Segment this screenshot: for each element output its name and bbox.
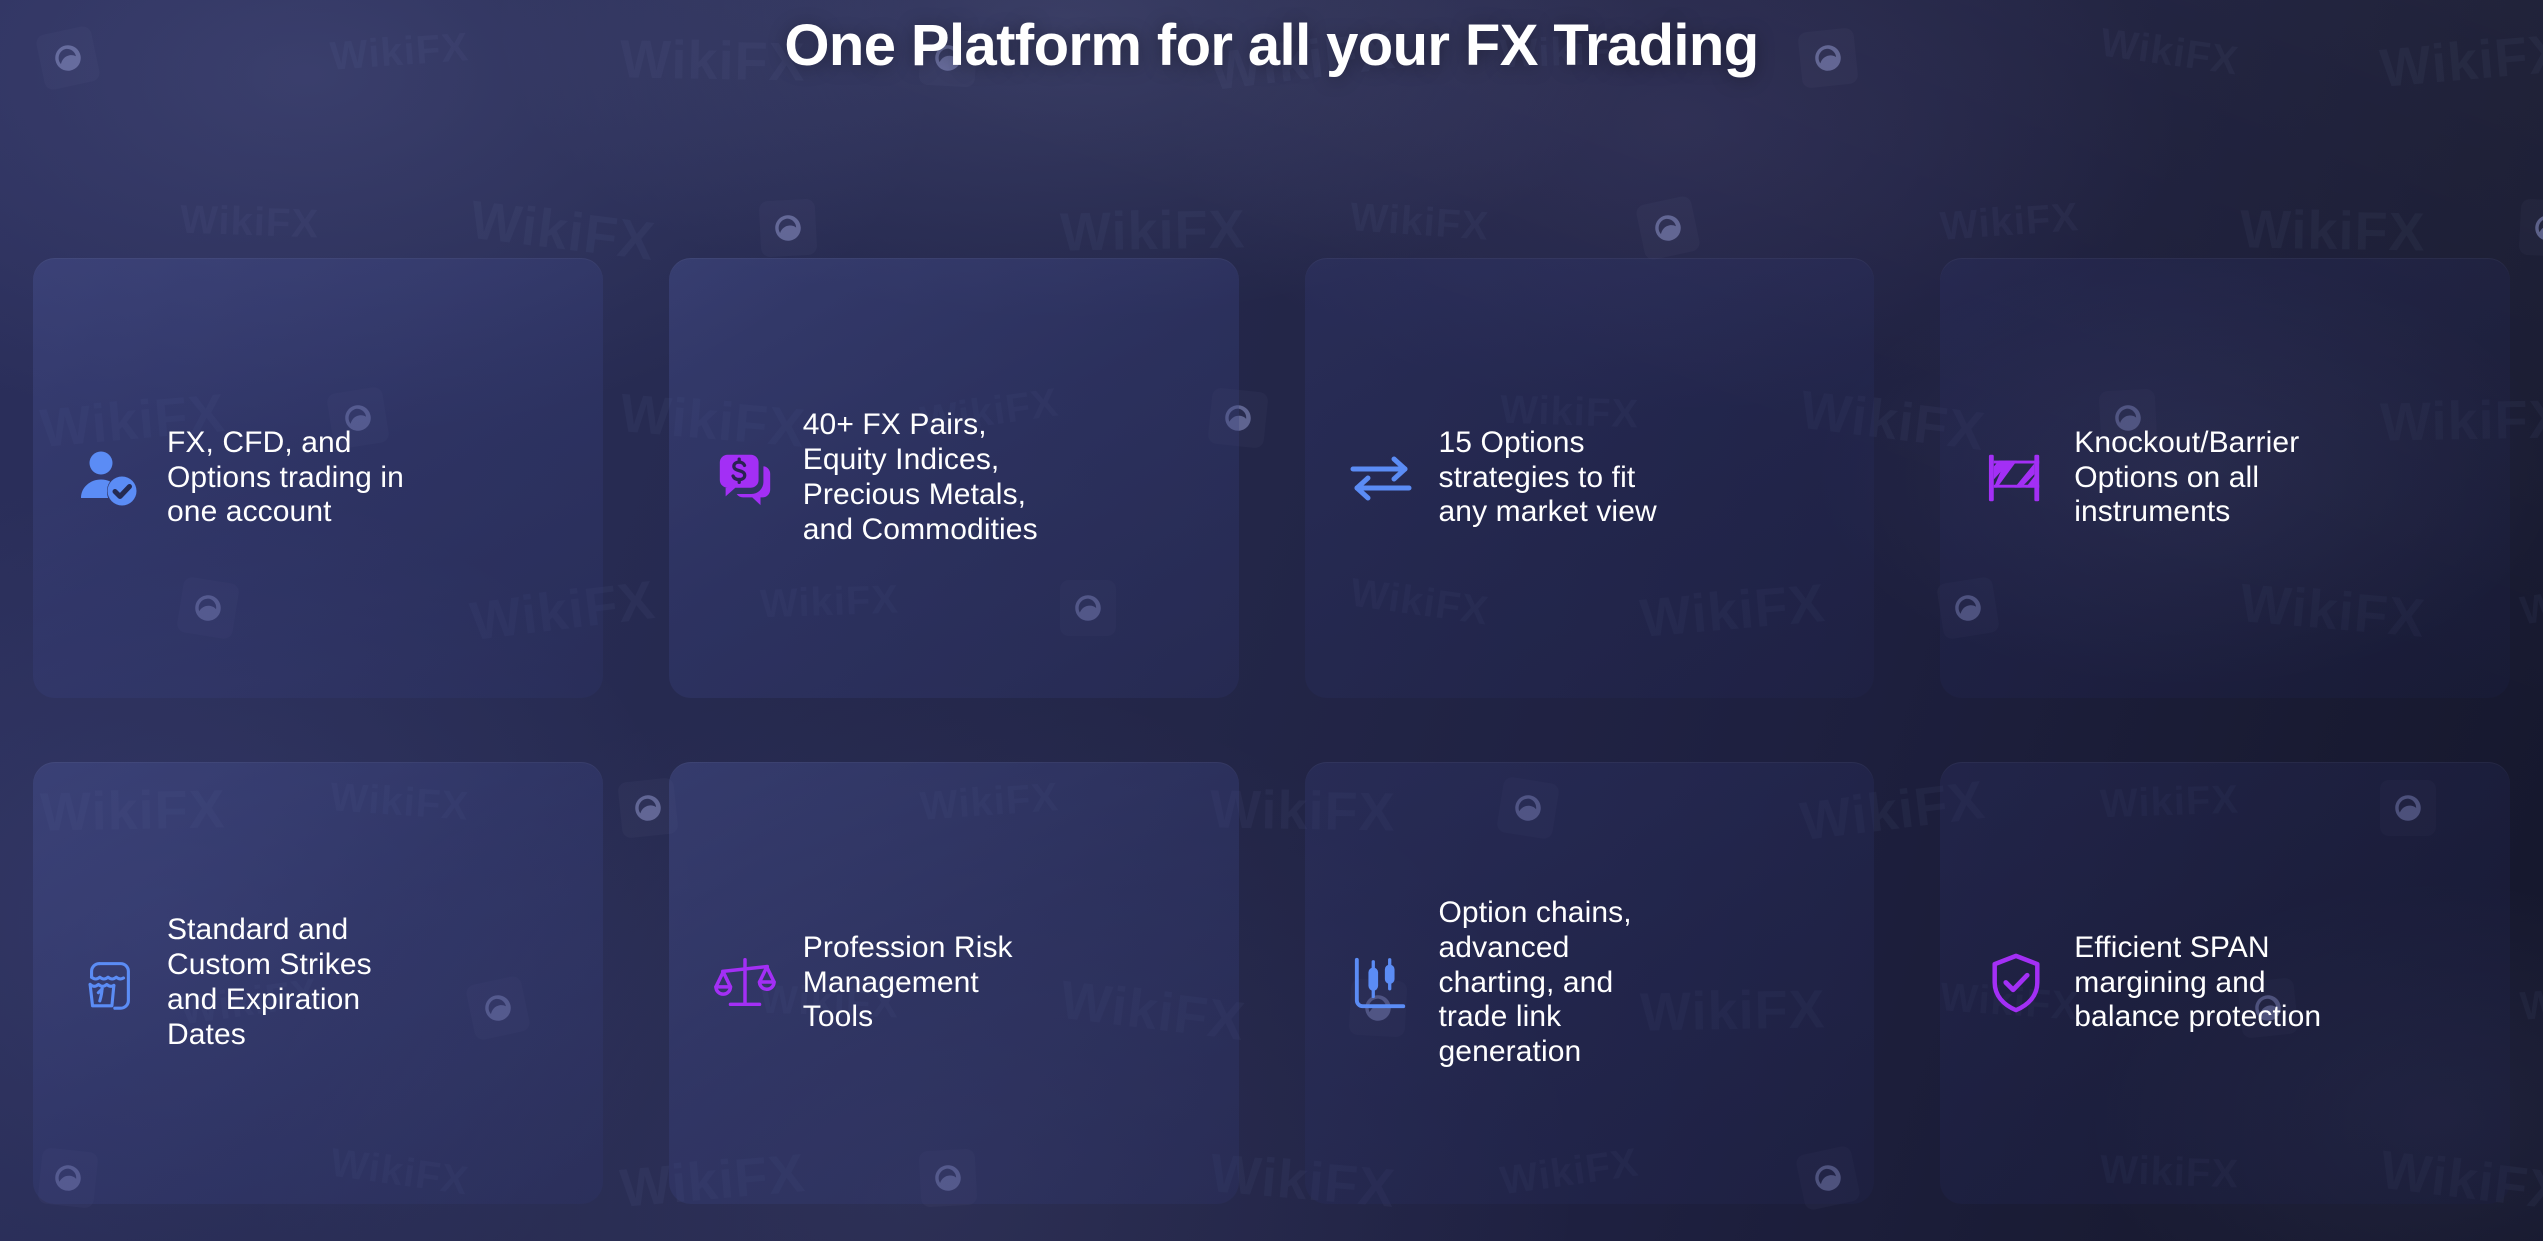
feature-card-grid: FX, CFD, and Options trading in one acco… xyxy=(33,258,2510,1204)
feature-card-text: 15 Options strategies to fit any market … xyxy=(1439,426,1689,530)
feature-card-risk-management[interactable]: Profession Risk Management Tools xyxy=(669,762,1239,1204)
feature-card-text: Option chains, advanced charting, and tr… xyxy=(1439,896,1689,1070)
user-check-icon xyxy=(73,442,145,514)
feature-card-option-chains[interactable]: Option chains, advanced charting, and tr… xyxy=(1305,762,1875,1204)
calendar-page-icon xyxy=(73,947,145,1019)
feature-card-text: FX, CFD, and Options trading in one acco… xyxy=(167,426,417,530)
feature-card-options-strategies[interactable]: 15 Options strategies to fit any market … xyxy=(1305,258,1875,698)
swap-arrows-icon xyxy=(1345,442,1417,514)
feature-card-text: Standard and Custom Strikes and Expirati… xyxy=(167,913,417,1052)
scales-balance-icon xyxy=(709,947,781,1019)
shield-check-icon xyxy=(1980,947,2052,1019)
feature-card-text: 40+ FX Pairs, Equity Indices, Precious M… xyxy=(803,408,1053,547)
feature-card-knockout-barrier[interactable]: Knockout/Barrier Options on all instrume… xyxy=(1940,258,2510,698)
feature-section: One Platform for all your FX Trading FX,… xyxy=(0,0,2543,1241)
feature-card-text: Profession Risk Management Tools xyxy=(803,931,1053,1035)
chat-dollar-icon xyxy=(709,442,781,514)
feature-card-strikes-expiration[interactable]: Standard and Custom Strikes and Expirati… xyxy=(33,762,603,1204)
feature-card-instruments[interactable]: 40+ FX Pairs, Equity Indices, Precious M… xyxy=(669,258,1239,698)
candlestick-chart-icon xyxy=(1345,947,1417,1019)
feature-card-text: Efficient SPAN margining and balance pro… xyxy=(2074,931,2324,1035)
page-title: One Platform for all your FX Trading xyxy=(0,12,2543,80)
barrier-icon xyxy=(1980,442,2052,514)
feature-card-span-margining[interactable]: Efficient SPAN margining and balance pro… xyxy=(1940,762,2510,1204)
feature-card-text: Knockout/Barrier Options on all instrume… xyxy=(2074,426,2404,530)
feature-card-fx-cfd-options[interactable]: FX, CFD, and Options trading in one acco… xyxy=(33,258,603,698)
